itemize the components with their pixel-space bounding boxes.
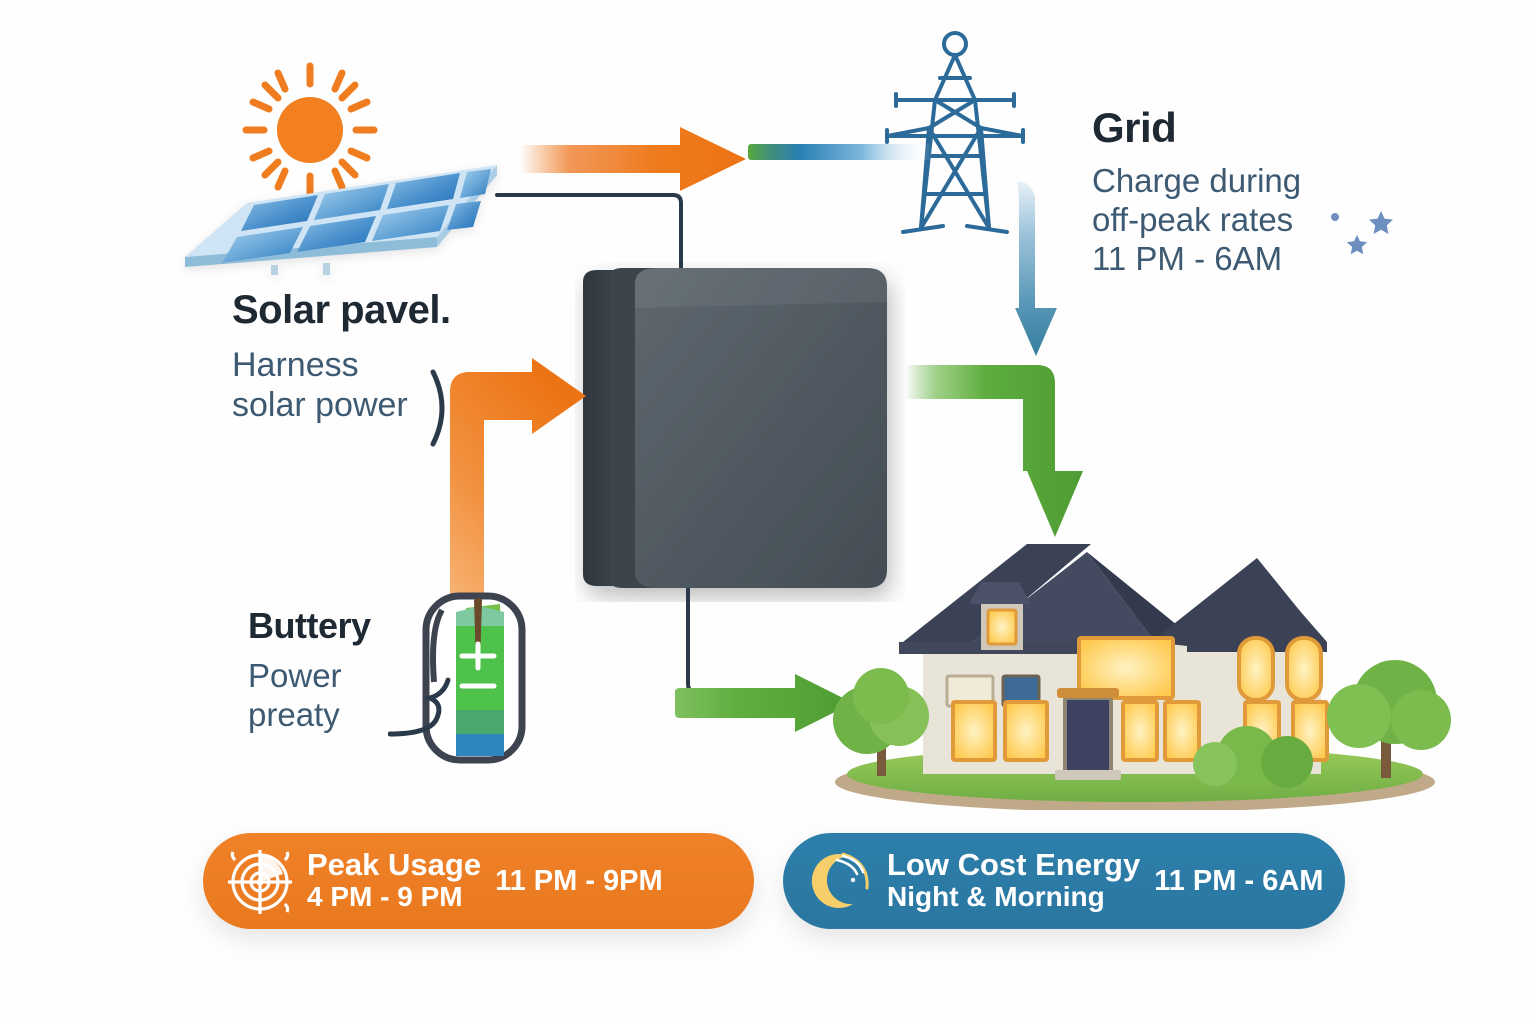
battery-label-connector <box>388 672 468 742</box>
battery-title: Buttery <box>248 605 371 647</box>
solar-subtitle-line1: Harness <box>232 345 451 385</box>
battery-label-group: Buttery Power preaty <box>248 605 371 735</box>
peak-usage-text: Peak Usage 4 PM - 9 PM <box>307 849 481 914</box>
solar-label-group: Solar pavel. Harness solar power <box>232 288 451 425</box>
radar-gauge-icon <box>223 844 297 918</box>
infographic-canvas: Solar pavel. Harness solar power Buttery… <box>0 0 1536 1024</box>
solar-subtitle: Harness solar power <box>232 345 451 425</box>
grid-subtitle-line3: 11 PM - 6AM <box>1092 240 1301 279</box>
peak-usage-time: 11 PM - 9PM <box>495 865 663 898</box>
green-blue-gradient-bar <box>748 142 933 168</box>
house-icon <box>795 520 1465 810</box>
peak-usage-pill[interactable]: Peak Usage 4 PM - 9 PM 11 PM - 9PM <box>203 833 754 929</box>
battery-subtitle: Power preaty <box>248 657 371 735</box>
low-cost-energy-subtitle: Night & Morning <box>887 881 1140 913</box>
grid-label-group: Grid Charge during off-peak rates 11 PM … <box>1092 104 1301 279</box>
low-cost-energy-time: 11 PM - 6AM <box>1154 865 1323 898</box>
grid-subtitle: Charge during off-peak rates 11 PM - 6AM <box>1092 162 1301 279</box>
peak-usage-subtitle: 4 PM - 9 PM <box>307 881 481 913</box>
low-cost-energy-title: Low Cost Energy <box>887 849 1140 882</box>
star-decor-3 <box>1330 212 1340 222</box>
peak-usage-title: Peak Usage <box>307 849 481 882</box>
low-cost-energy-text: Low Cost Energy Night & Morning <box>887 849 1140 914</box>
solar-panel-icon <box>175 145 505 275</box>
blue-arrow-down <box>995 178 1105 373</box>
star-decor-2 <box>1346 234 1368 256</box>
battery-subtitle-line2: preaty <box>248 696 371 735</box>
solar-subtitle-line2: solar power <box>232 385 451 425</box>
grid-title: Grid <box>1092 104 1301 152</box>
battery-subtitle-line1: Power <box>248 657 371 696</box>
low-cost-energy-pill[interactable]: Low Cost Energy Night & Morning 11 PM - … <box>783 833 1345 929</box>
green-elbow-arrow-down <box>905 355 1095 540</box>
solar-title: Solar pavel. <box>232 288 451 333</box>
moon-icon <box>803 844 877 918</box>
star-decor-1 <box>1368 210 1394 236</box>
grid-subtitle-line2: off-peak rates <box>1092 201 1301 240</box>
grid-subtitle-line1: Charge during <box>1092 162 1301 201</box>
orange-arrow-right <box>520 125 750 193</box>
